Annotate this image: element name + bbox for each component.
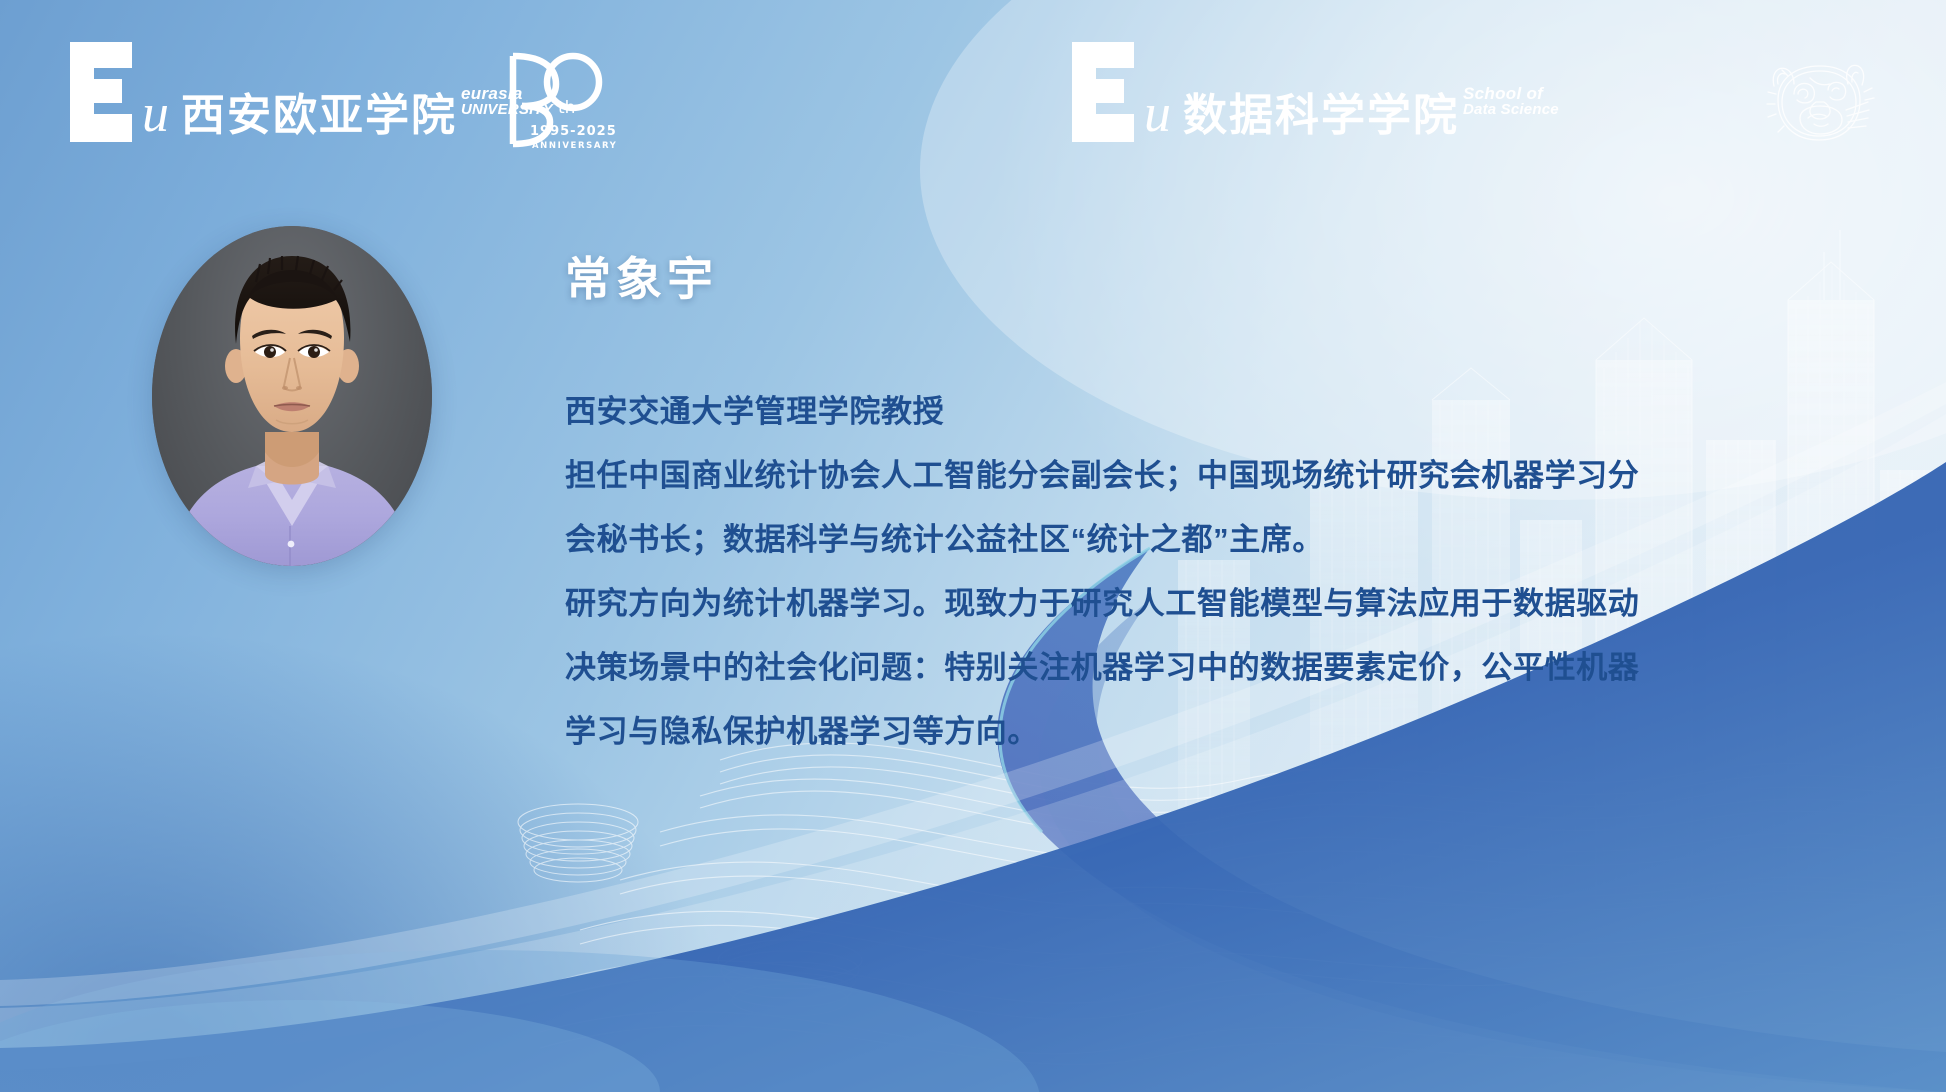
logo-bar: u 西安欧亚学院 eurasia UNIVERSITY th 1995-2025… bbox=[0, 0, 1946, 180]
school-cn-name: 数据科学学院 bbox=[1183, 94, 1459, 138]
contour-ellipse-stack-2 bbox=[718, 940, 862, 1016]
page-title: 常象宇 bbox=[565, 243, 718, 309]
anniversary-word: ANNIVERSARY bbox=[532, 141, 617, 151]
anniversary-years: 1995-2025 bbox=[530, 124, 617, 139]
eu-e-mark-icon bbox=[70, 42, 132, 142]
speaker-intro-slide: u 西安欧亚学院 eurasia UNIVERSITY th 1995-2025… bbox=[0, 0, 1946, 1092]
school-en-name: School of Data Science bbox=[1463, 85, 1559, 118]
bio-line: 研究方向为统计机器学习。现致力于研究人工智能模型与算法应用于数据驱动 bbox=[565, 572, 1905, 636]
eu-u-letter: u bbox=[142, 90, 169, 136]
anniversary-th-suffix: th bbox=[558, 98, 575, 118]
bio-line: 担任中国商业统计协会人工智能分会副会长；中国现场统计研究会机器学习分 bbox=[565, 444, 1905, 508]
bio-line: 西安交通大学管理学院教授 bbox=[565, 380, 1905, 444]
avatar bbox=[152, 226, 432, 566]
school-en-line2: Data Science bbox=[1463, 102, 1559, 118]
bio-line: 决策场景中的社会化问题：特别关注机器学习中的数据要素定价，公平性机器 bbox=[565, 636, 1905, 700]
bear-mascot-icon bbox=[1738, 40, 1898, 160]
university-cn-name: 西安欧亚学院 bbox=[181, 94, 457, 138]
school-logo: u 数据科学学院 School of Data Science bbox=[1072, 42, 1559, 142]
bio-line: 学习与隐私保护机器学习等方向。 bbox=[565, 700, 1905, 764]
contour-ellipse-stack-1 bbox=[518, 804, 638, 882]
school-e-mark-icon bbox=[1072, 42, 1134, 142]
bio-block: 西安交通大学管理学院教授 担任中国商业统计协会人工智能分会副会长；中国现场统计研… bbox=[565, 380, 1905, 764]
bio-line: 会秘书长；数据科学与统计公益社区“统计之都”主席。 bbox=[565, 508, 1905, 572]
contour-lines bbox=[540, 743, 1946, 1065]
school-en-line1: School of bbox=[1463, 84, 1543, 103]
anniversary-logo: th 1995-2025 ANNIVERSARY bbox=[470, 40, 620, 160]
school-u-letter: u bbox=[1144, 90, 1171, 136]
portrait-illustration bbox=[152, 226, 432, 566]
